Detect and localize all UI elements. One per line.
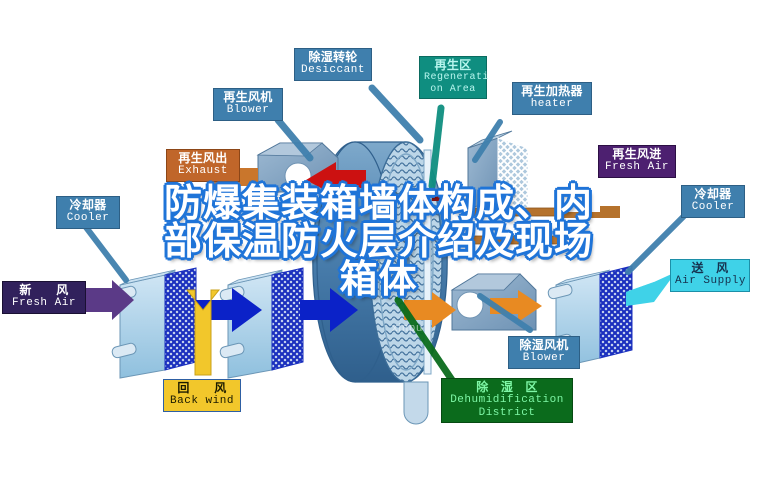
callout-dehumidification-blower-en: Blower — [513, 352, 575, 364]
callout-regeneration-blower-en: Blower — [218, 104, 278, 116]
callout-regeneration-heater-cn: 再生加热器 — [517, 85, 587, 98]
callout-regeneration-heater-en: heater — [517, 98, 587, 110]
callout-fresh-air-en: Fresh Air — [7, 297, 81, 309]
callout-back-wind-en: Back wind — [168, 395, 236, 407]
callout-cooler-right-cn: 冷却器 — [686, 188, 740, 201]
callout-regeneration-fresh-air: 再生风进 Fresh Air — [598, 145, 676, 178]
callout-dehumidification-blower: 除湿风机 Blower — [508, 336, 580, 369]
callout-fresh-air-cn: 新 风 — [7, 284, 81, 297]
callout-regeneration-fresh-air-cn: 再生风进 — [603, 148, 671, 161]
cooler-block-left-2 — [219, 268, 303, 378]
callout-regeneration-blower: 再生风机 Blower — [213, 88, 283, 121]
callout-dehumidification-district-en-line2: District — [446, 407, 568, 419]
callout-regeneration-blower-cn: 再生风机 — [218, 91, 278, 104]
callout-cooler-right: 冷却器 Cooler — [681, 185, 745, 218]
callout-dehumidification-district: 除 湿 区 Dehumidification District — [441, 378, 573, 423]
callout-desiccant-wheel-en: Desiccant — [299, 64, 367, 76]
diagram-illustration — [0, 0, 757, 488]
arrow-air-supply — [626, 272, 676, 306]
wheel-drain-duct — [404, 382, 428, 424]
callout-regeneration-area-en-line1: Regenerati — [424, 72, 482, 83]
dehumidifier-flow-diagram: xinpu 除湿转轮 Desiccant 再生风机 Blower 再生区 Reg… — [0, 0, 757, 488]
watermark-text: xinpu — [392, 322, 423, 334]
callout-regeneration-heater: 再生加热器 heater — [512, 82, 592, 115]
callout-dehumidification-district-en-line1: Dehumidification — [446, 394, 568, 406]
cooler-block-left — [111, 268, 196, 378]
callout-exhaust: 再生风出 Exhaust — [166, 149, 240, 182]
callout-air-supply: 送 风 Air Supply — [670, 259, 750, 292]
callout-dehumidification-district-cn: 除 湿 区 — [446, 381, 568, 394]
callout-back-wind: 回 风 Back wind — [163, 379, 241, 412]
callout-exhaust-en: Exhaust — [171, 165, 235, 177]
callout-fresh-air: 新 风 Fresh Air — [2, 281, 86, 314]
callout-regeneration-area-en-line2: on Area — [424, 84, 482, 95]
callout-cooler-right-en: Cooler — [686, 201, 740, 213]
callout-cooler-left-cn: 冷却器 — [61, 199, 115, 212]
callout-cooler-left: 冷却器 Cooler — [56, 196, 120, 229]
regeneration-heater-unit — [432, 131, 558, 244]
callout-regeneration-area-cn: 再生区 — [424, 59, 482, 72]
callout-air-supply-en: Air Supply — [675, 275, 745, 287]
callout-back-wind-cn: 回 风 — [168, 382, 236, 395]
callout-desiccant-wheel-cn: 除湿转轮 — [299, 51, 367, 64]
callout-cooler-left-en: Cooler — [61, 212, 115, 224]
callout-exhaust-cn: 再生风出 — [171, 152, 235, 165]
callout-dehumidification-blower-cn: 除湿风机 — [513, 339, 575, 352]
callout-air-supply-cn: 送 风 — [675, 262, 745, 275]
callout-regeneration-fresh-air-en: Fresh Air — [603, 161, 671, 173]
callout-desiccant-wheel: 除湿转轮 Desiccant — [294, 48, 372, 81]
callout-regeneration-area: 再生区 Regenerati on Area — [419, 56, 487, 99]
arrow-regeneration-inlet — [560, 206, 620, 218]
